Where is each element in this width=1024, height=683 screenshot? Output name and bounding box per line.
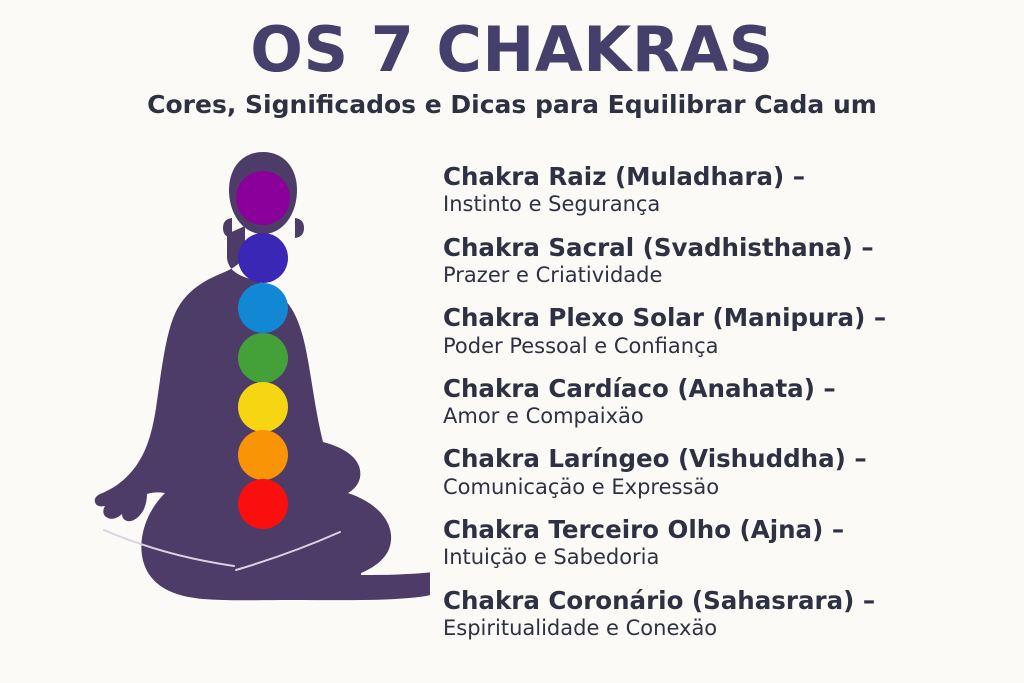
chakra-meaning: Prazer e Criatividade [443,263,1013,288]
chakra-name: Chakra Terceiro Olho (Ajna) – [443,516,1013,544]
chakra-point [238,430,288,480]
chakra-list-item: Chakra Coronário (Sahasrara) –Espiritual… [443,587,1013,642]
page-subtitle: Cores, Significados e Dicas para Equilib… [0,91,1024,119]
chakra-point [236,171,290,225]
chakra-point [238,382,288,432]
chakra-point [238,333,288,383]
chakra-name: Chakra Laríngeo (Vishuddha) – [443,445,1013,473]
chakra-name: Chakra Plexo Solar (Manipura) – [443,304,1013,332]
chakra-name: Chakra Raiz (Muladhara) – [443,163,1013,191]
chakra-point [238,479,288,529]
chakra-point [238,283,288,333]
meditating-figure [10,150,430,620]
chakra-list-item: Chakra Terceiro Olho (Ajna) –Intuiçäo e … [443,516,1013,571]
chakra-name: Chakra Cardíaco (Anahata) – [443,375,1013,403]
chakra-name: Chakra Coronário (Sahasrara) – [443,587,1013,615]
chakra-name: Chakra Sacral (Svadhisthana) – [443,234,1013,262]
chakra-meaning: Poder Pessoal e Confiança [443,334,1013,359]
chakra-meaning: Comunicaçäo e Expressäo [443,475,1013,500]
chakra-list-item: Chakra Plexo Solar (Manipura) –Poder Pes… [443,304,1013,359]
chakra-list-item: Chakra Cardíaco (Anahata) –Amor e Compai… [443,375,1013,430]
lotus-silhouette-svg [10,150,430,620]
chakra-list-item: Chakra Sacral (Svadhisthana) –Prazer e C… [443,234,1013,289]
chakra-meaning: Espiritualidade e Conexäo [443,616,1013,641]
chakra-point [238,233,288,283]
chakra-infographic: OS 7 CHAKRAS Cores, Significados e Dicas… [0,0,1024,683]
poster-header: OS 7 CHAKRAS Cores, Significados e Dicas… [0,0,1024,119]
chakra-list: Chakra Raiz (Muladhara) –Instinto e Segu… [443,163,1013,641]
chakra-meaning: Intuiçäo e Sabedoria [443,545,1013,570]
page-title: OS 7 CHAKRAS [0,18,1024,81]
chakra-meaning: Instinto e Segurança [443,192,1013,217]
chakra-list-item: Chakra Raiz (Muladhara) –Instinto e Segu… [443,163,1013,218]
chakra-meaning: Amor e Compaixäo [443,404,1013,429]
chakra-list-item: Chakra Laríngeo (Vishuddha) –Comunicaçäo… [443,445,1013,500]
